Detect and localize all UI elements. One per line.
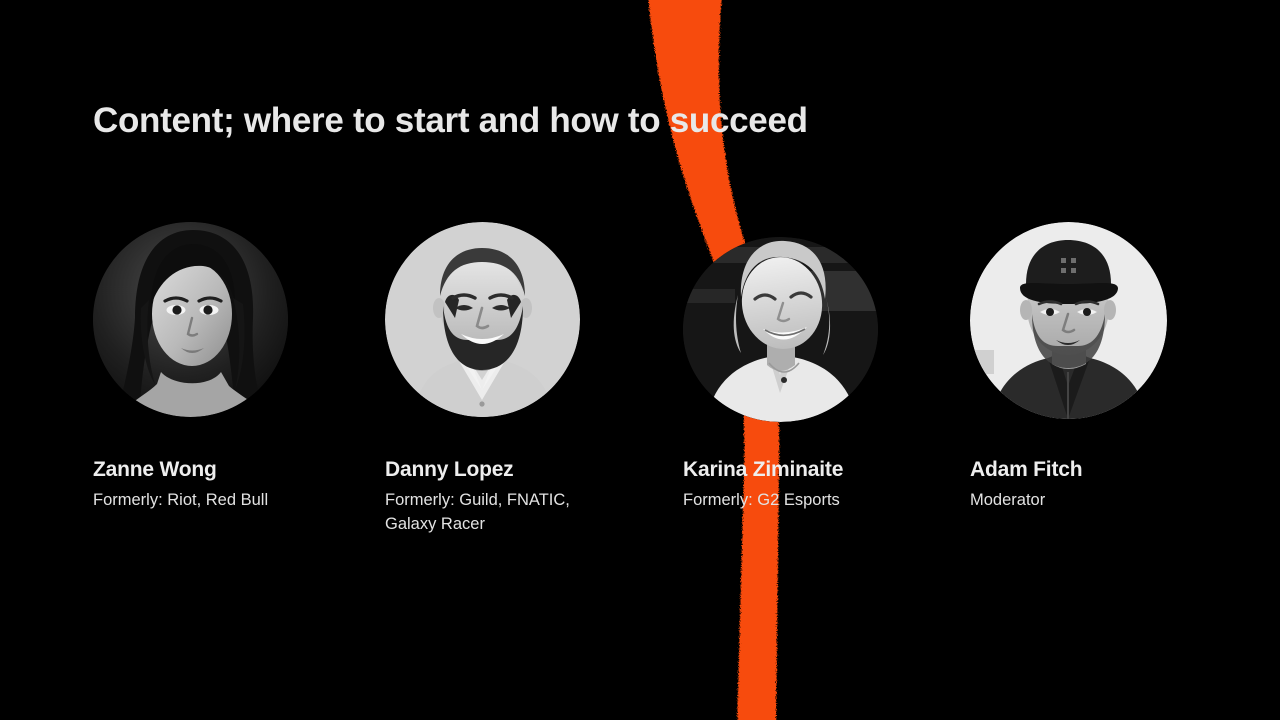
speaker-name: Zanne Wong — [93, 458, 288, 482]
slide-canvas: Content; where to start and how to succe… — [0, 0, 1280, 720]
speaker-role: Formerly: G2 Esports — [683, 489, 878, 513]
speaker-card: Adam Fitch Moderator — [970, 222, 1167, 513]
speaker-card: Zanne Wong Formerly: Riot, Red Bull — [93, 222, 288, 513]
avatar-adam-fitch — [970, 222, 1167, 419]
speaker-role: Formerly: Riot, Red Bull — [93, 489, 288, 513]
speaker-name: Adam Fitch — [970, 458, 1167, 482]
speaker-role: Formerly: Guild, FNATIC, Galaxy Racer — [385, 489, 600, 537]
speaker-name: Danny Lopez — [385, 458, 600, 482]
avatar-karina-ziminaite — [683, 237, 878, 422]
speaker-role: Moderator — [970, 489, 1167, 513]
avatar-danny-lopez — [385, 222, 580, 417]
speaker-name: Karina Ziminaite — [683, 458, 878, 482]
speaker-card: Danny Lopez Formerly: Guild, FNATIC, Gal… — [385, 222, 600, 537]
speaker-card: Karina Ziminaite Formerly: G2 Esports — [683, 237, 878, 513]
page-title: Content; where to start and how to succe… — [93, 101, 808, 141]
avatar-zanne-wong — [93, 222, 288, 417]
